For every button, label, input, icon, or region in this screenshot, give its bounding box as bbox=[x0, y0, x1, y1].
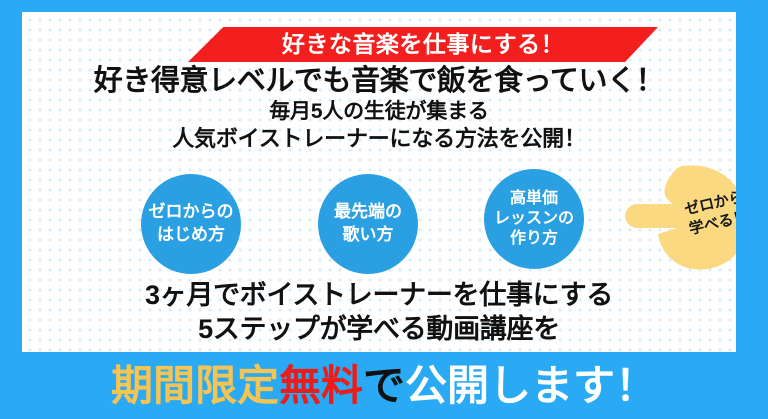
cta-segment-de: で bbox=[363, 362, 405, 409]
feature-circle-line: 歌い方 bbox=[343, 224, 394, 247]
feature-circle-zero-kara: ゼロからの はじめ方 bbox=[141, 174, 241, 274]
promo-banner: 好きな音楽を仕事にする！ 好き得意レベルでも音楽で飯を食っていく！ 毎月5人の生… bbox=[0, 0, 768, 419]
feature-circle-line: 作り方 bbox=[510, 229, 558, 249]
headline-sub-1: 毎月5人の生徒が集まる bbox=[22, 100, 736, 125]
feature-circle-line: 高単価 bbox=[510, 189, 558, 209]
closing-line-1: 3ヶ月でボイストレーナーを仕事にする bbox=[22, 278, 736, 312]
content-panel: 好きな音楽を仕事にする！ 好き得意レベルでも音楽で飯を食っていく！ 毎月5人の生… bbox=[22, 12, 736, 352]
feature-circle-line: ゼロからの bbox=[149, 201, 234, 224]
cta-segment-period: 期間限定 bbox=[111, 362, 279, 409]
feature-circle-line: レッスンの bbox=[494, 209, 574, 229]
feature-circle-line: はじめ方 bbox=[157, 224, 225, 247]
feature-circle-line: 最先端の bbox=[334, 201, 402, 224]
cta-segment-release: 公開します！ bbox=[405, 362, 657, 409]
bottom-cta-text: 期間限定無料で公開します！ bbox=[111, 365, 657, 407]
headline-sub-2: 人気ボイストレーナーになる方法を公開！ bbox=[22, 126, 736, 152]
headline-main: 好き得意レベルでも音楽で飯を食っていく！ bbox=[22, 65, 736, 97]
ribbon-text: 好きな音楽を仕事にする！ bbox=[282, 33, 564, 56]
bottom-cta-bar: 期間限定無料で公開します！ bbox=[0, 352, 768, 419]
pointing-hand-callout: ゼロから 学べる！ bbox=[622, 160, 736, 278]
headline-block: 好き得意レベルでも音楽で飯を食っていく！ 毎月5人の生徒が集まる 人気ボイストレ… bbox=[22, 65, 736, 152]
cta-segment-free: 無料 bbox=[279, 362, 363, 409]
feature-circle-koutanka: 高単価 レッスンの 作り方 bbox=[484, 169, 584, 269]
feature-circle-saisentan: 最先端の 歌い方 bbox=[318, 174, 418, 274]
red-ribbon: 好きな音楽を仕事にする！ bbox=[188, 27, 658, 62]
closing-block: 3ヶ月でボイストレーナーを仕事にする 5ステップが学べる動画講座を bbox=[22, 278, 736, 346]
closing-line-2: 5ステップが学べる動画講座を bbox=[22, 312, 736, 346]
